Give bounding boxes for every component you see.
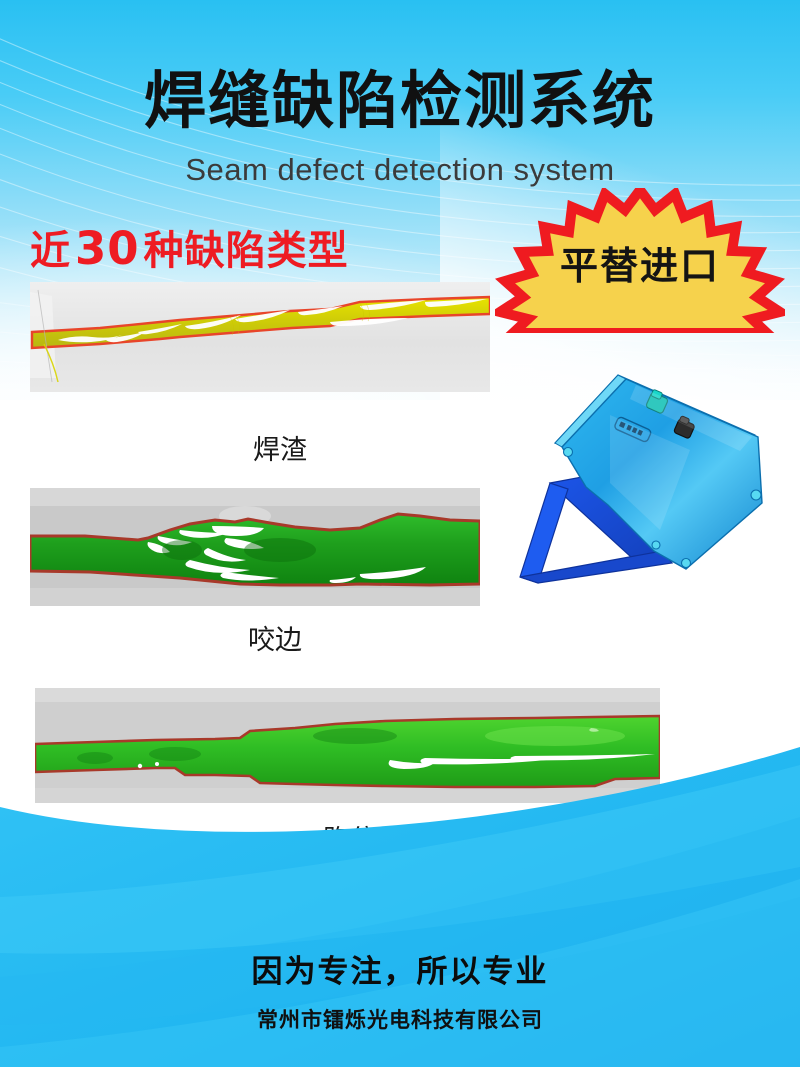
headline-number: 30 [71, 222, 144, 275]
import-substitute-badge: 平替进口 [495, 188, 785, 333]
sample-image-weld-slag [30, 282, 490, 392]
product-device-illustration [490, 355, 780, 605]
sample-caption-weld-slag: 焊渣 [160, 428, 400, 467]
footer-company-name: 常州市镭烁光电科技有限公司 [0, 1004, 800, 1034]
footer-slogan: 因为专注，所以专业 [0, 946, 800, 991]
badge-label: 平替进口 [495, 188, 785, 333]
headline-suffix: 种缺陷类型 [144, 228, 349, 274]
headline-prefix: 近 [30, 228, 71, 274]
sample-image-undercut [30, 488, 480, 606]
sample-caption-undercut: 咬边 [155, 618, 395, 657]
defect-count-headline: 近30种缺陷类型 [30, 218, 349, 276]
poster-canvas: 焊缝缺陷检测系统 Seam defect detection system 近3… [0, 0, 800, 1067]
page-subtitle: Seam defect detection system [0, 152, 800, 188]
page-title: 焊缝缺陷检测系统 [0, 68, 800, 133]
